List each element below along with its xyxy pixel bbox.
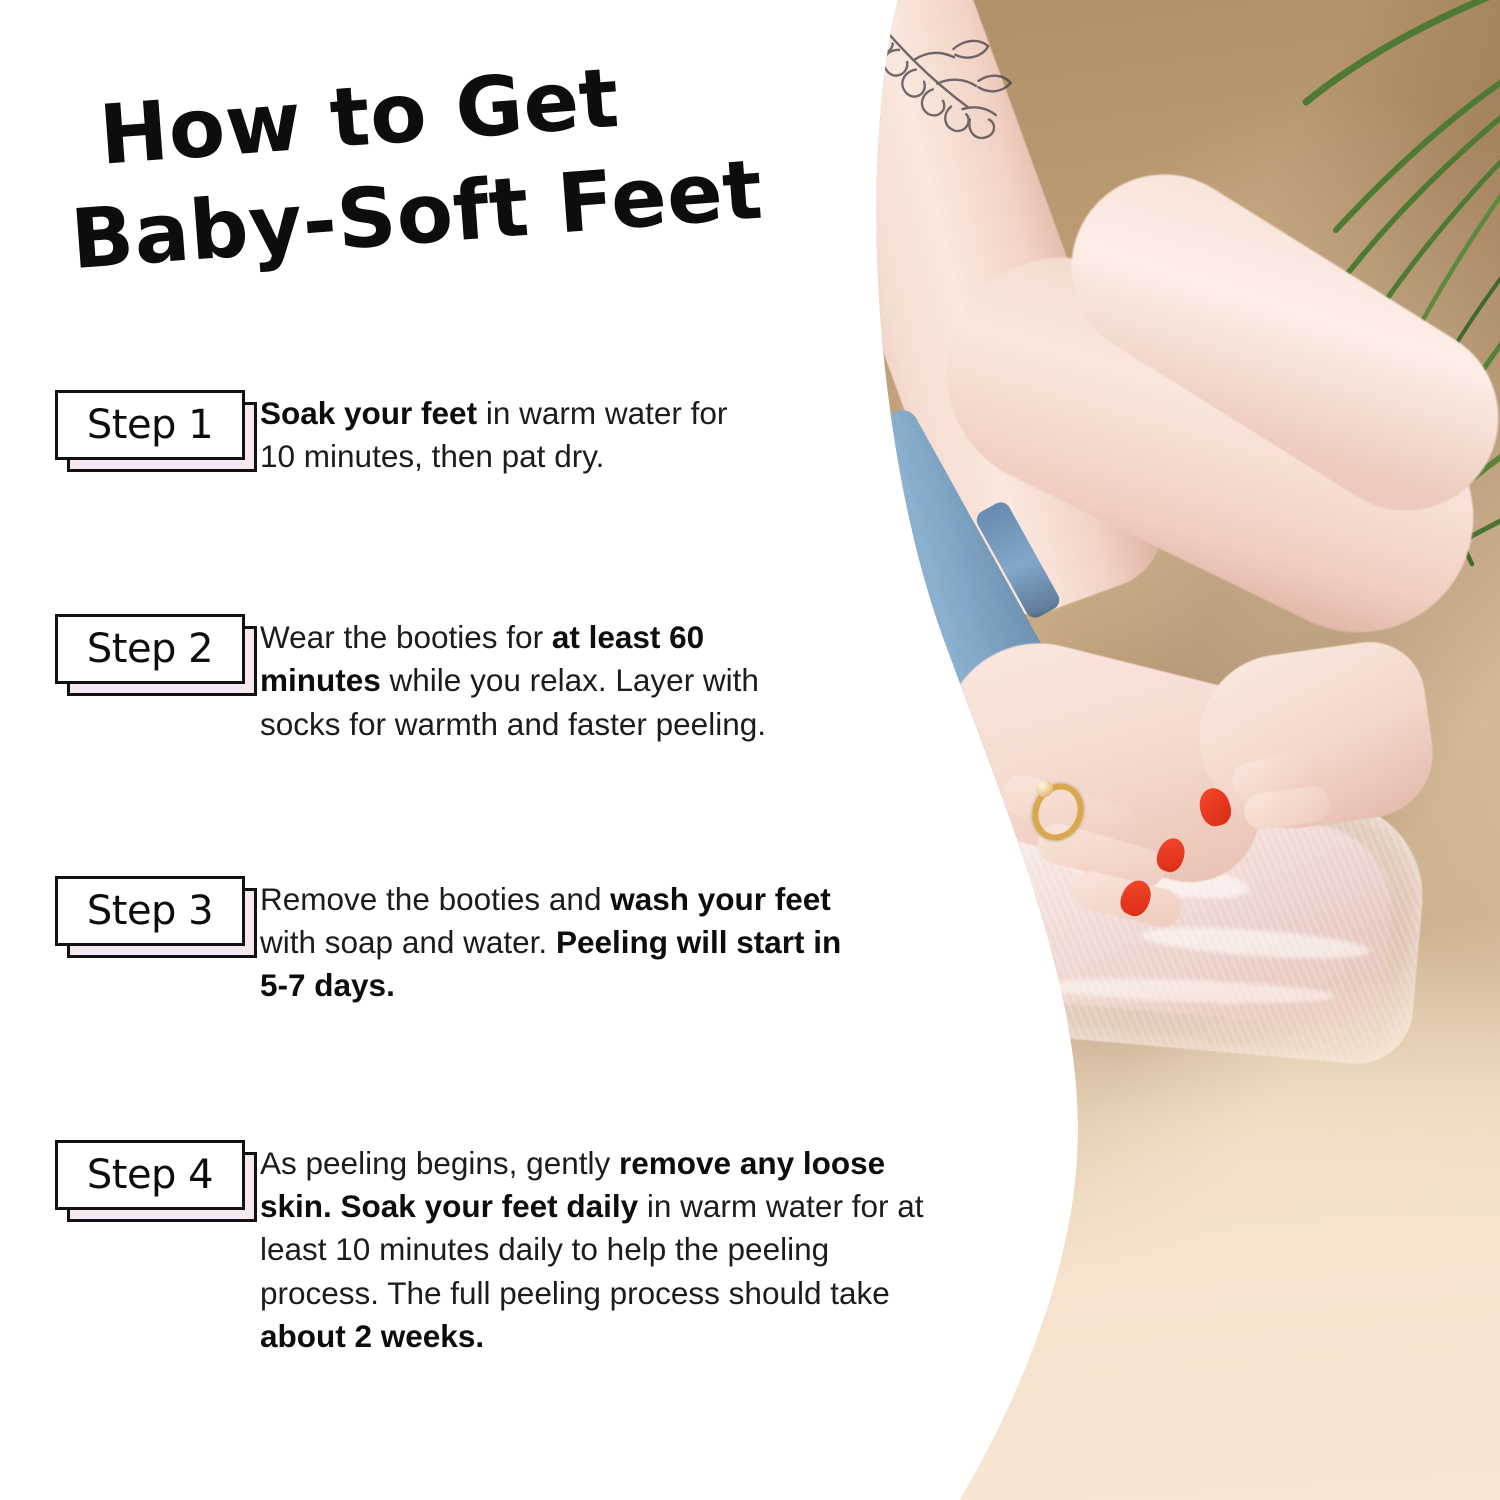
step-badge-wrapper: Step 3: [0, 876, 260, 946]
step-description-1: Soak your feet in warm water for 10 minu…: [260, 390, 750, 478]
step-description-4: As peeling begins, gently remove any loo…: [260, 1140, 970, 1358]
step-badge-label: Step 2: [87, 629, 213, 669]
step-row: Step 3 Remove the booties and wash your …: [0, 876, 1000, 1007]
step-badge-label: Step 3: [87, 891, 213, 931]
steps-list: Step 1 Soak your feet in warm water for …: [0, 390, 1000, 1500]
step-row: Step 4 As peeling begins, gently remove …: [0, 1140, 1000, 1358]
step-badge-label: Step 4: [87, 1155, 213, 1195]
step-row: Step 2 Wear the booties for at least 60 …: [0, 614, 1000, 745]
step-badge-4: Step 4: [55, 1140, 245, 1210]
step-badge-label: Step 1: [87, 405, 213, 445]
step-badge-3: Step 3: [55, 876, 245, 946]
step-description-3: Remove the booties and wash your feet wi…: [260, 876, 880, 1007]
step-badge-wrapper: Step 4: [0, 1140, 260, 1210]
infographic-page: How to Get Baby-Soft Feet Step 1 Soak yo…: [0, 0, 1500, 1500]
step-badge-2: Step 2: [55, 614, 245, 684]
page-title: How to Get Baby-Soft Feet: [96, 35, 809, 289]
step-badge-1: Step 1: [55, 390, 245, 460]
step-row: Step 1 Soak your feet in warm water for …: [0, 390, 1000, 478]
step-badge-wrapper: Step 2: [0, 614, 260, 684]
step-description-2: Wear the booties for at least 60 minutes…: [260, 614, 840, 745]
step-badge-wrapper: Step 1: [0, 390, 260, 460]
